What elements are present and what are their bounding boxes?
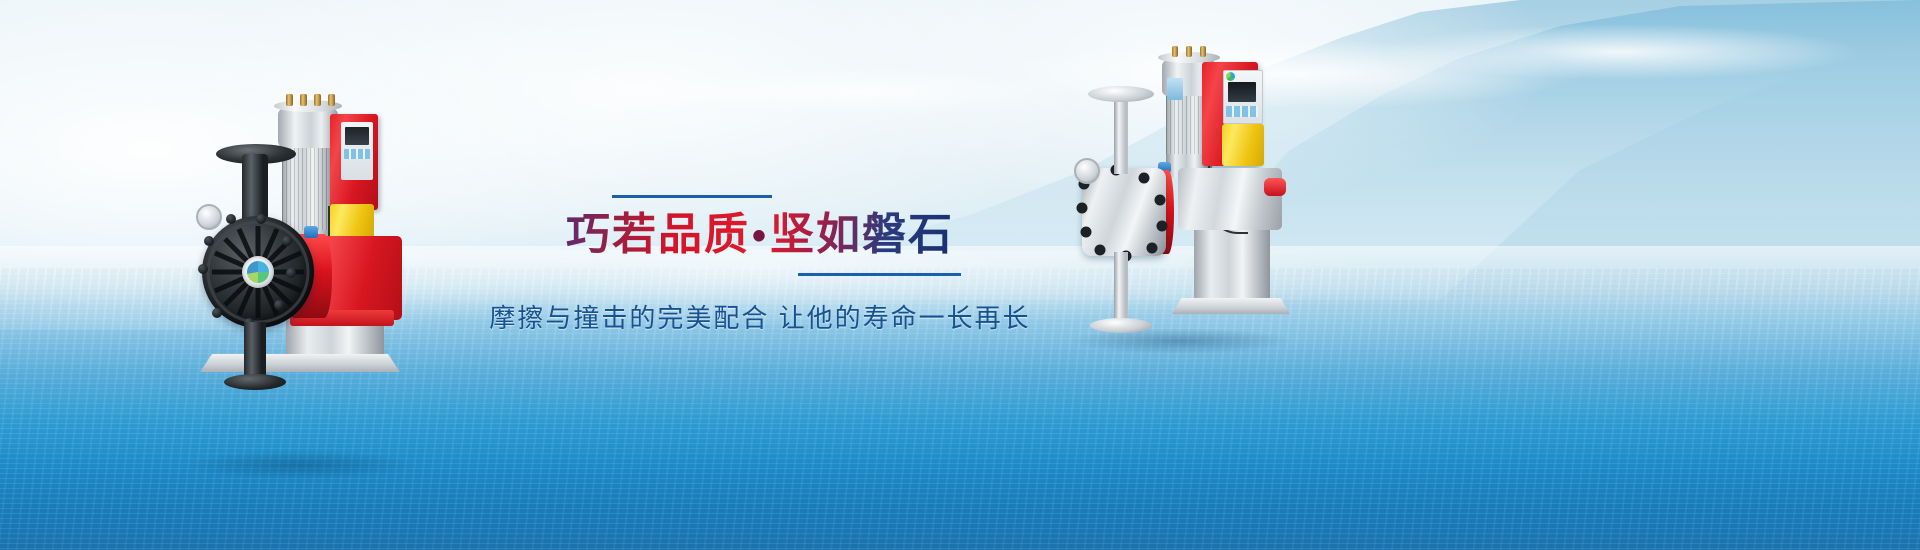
pump-left-outlet-stem [244,322,266,380]
pump-right-shadow [1068,328,1294,354]
pump-left-bolt [282,236,292,246]
banner-copy: 巧若品质•坚如磐石 摩擦与撞击的完美配合 让他的寿命一长再长 [480,150,1040,350]
pump-right-keypad [1226,106,1258,117]
pump-right-nameplate [1167,78,1183,100]
pump-right-inlet-riser [1114,94,1128,174]
pump-left-lcd-display [345,127,369,145]
pump-right-lcd-display [1228,82,1256,102]
pump-right-base-plate [1172,298,1290,314]
pump-left-keypad [344,149,370,159]
pump-left-base-plate [200,354,400,372]
pump-left-inlet-column [242,154,268,224]
headline-part-red: 巧若品质 [566,210,750,259]
pump-left-bolt [212,308,222,318]
headline-part-blue: 坚如磐石 [770,210,954,259]
pump-right-outlet-pipe [1114,252,1128,324]
pump-left-bolt [274,300,284,310]
pump-left-brass-fitting [286,94,293,106]
pump-left-brass-fitting [314,94,321,106]
pump-left-motor-cap [278,108,338,148]
pump-right-gearbox [1178,168,1282,230]
pump-right-stroke-knob[interactable] [1264,178,1286,196]
pump-right-inlet-flange [1088,86,1154,102]
banner-subtitle: 摩擦与撞击的完美配合 让他的寿命一长再长 [475,298,1045,335]
pump-left-bolt [256,214,266,224]
product-pump-right [1060,40,1290,345]
pump-left-brass-fitting [328,94,335,106]
pump-left-bolt [286,268,296,278]
pump-left-brass-fitting [300,94,307,106]
hero-banner: 巧若品质•坚如磐石 摩擦与撞击的完美配合 让他的寿命一长再长 [0,0,1920,550]
pump-left-shadow [184,450,416,480]
pump-right-brass-fitting [1200,46,1206,57]
pump-left-bolt [198,264,208,274]
pump-left-bolt [226,214,236,224]
brand-logo-icon [247,261,269,283]
headline-separator: • [750,214,770,258]
rule-top [612,195,772,198]
brand-logo-icon [1226,72,1235,81]
pump-left-hub [242,256,274,288]
pump-right-pressure-gauge [1074,158,1100,184]
rule-bottom [798,273,961,276]
pump-left-pressure-gauge [196,204,222,230]
pump-right-outlet-flange [1090,318,1152,333]
pump-left-bolt [204,236,214,246]
pump-right-terminal-box [1222,124,1264,166]
pump-right-brass-fitting [1172,46,1178,57]
pump-left-outlet-flange [224,374,286,390]
pump-right-brass-fitting [1186,46,1192,57]
page-title: 巧若品质•坚如磐石 [480,206,1040,265]
product-pump-left [178,86,418,396]
